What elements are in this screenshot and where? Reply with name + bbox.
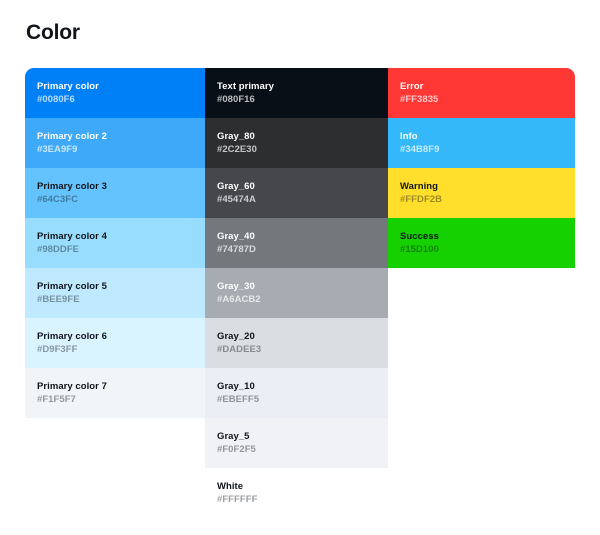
swatch-hex-value: #15D100	[400, 243, 575, 256]
color-swatch[interactable]: Primary color 6#D9F3FF	[25, 318, 205, 368]
swatch-label: Gray_10	[217, 380, 388, 393]
swatch-hex-value: #45474A	[217, 193, 388, 206]
swatch-label: Primary color 6	[37, 330, 205, 343]
swatch-hex-value: #EBEFF5	[217, 393, 388, 406]
color-swatch[interactable]: Primary color 5#BEE9FE	[25, 268, 205, 318]
color-swatch[interactable]: Gray_5#F0F2F5	[205, 418, 388, 468]
color-swatch[interactable]: Info#34B8F9	[388, 118, 575, 168]
color-swatch[interactable]: Gray_60#45474A	[205, 168, 388, 218]
swatch-column-status-colors: Error#FF3835Info#34B8F9Warning#FFDF2BSuc…	[388, 68, 575, 268]
swatch-hex-value: #FFFFFF	[217, 493, 388, 506]
swatch-label: Gray_80	[217, 130, 388, 143]
color-swatch[interactable]: Primary color#0080F6	[25, 68, 205, 118]
swatch-hex-value: #98DDFE	[37, 243, 205, 256]
swatch-hex-value: #F0F2F5	[217, 443, 388, 456]
swatch-label: Success	[400, 230, 575, 243]
color-swatch[interactable]: Gray_80#2C2E30	[205, 118, 388, 168]
swatch-label: Gray_5	[217, 430, 388, 443]
color-swatch[interactable]: Primary color 7#F1F5F7	[25, 368, 205, 418]
color-swatch[interactable]: Error#FF3835	[388, 68, 575, 118]
swatch-hex-value: #DADEE3	[217, 343, 388, 356]
swatch-label: Primary color 5	[37, 280, 205, 293]
page-title: Color	[26, 19, 80, 47]
swatch-column-primary-colors: Primary color#0080F6Primary color 2#3EA9…	[25, 68, 205, 418]
swatch-hex-value: #3EA9F9	[37, 143, 205, 156]
swatch-label: Primary color 2	[37, 130, 205, 143]
swatch-grid: Primary color#0080F6Primary color 2#3EA9…	[25, 68, 575, 518]
swatch-hex-value: #FF3835	[400, 93, 575, 106]
swatch-label: Primary color 3	[37, 180, 205, 193]
swatch-hex-value: #D9F3FF	[37, 343, 205, 356]
color-palette-page: Color Primary color#0080F6Primary color …	[0, 0, 600, 535]
swatch-label: White	[217, 480, 388, 493]
swatch-hex-value: #34B8F9	[400, 143, 575, 156]
swatch-label: Text primary	[217, 80, 388, 93]
swatch-label: Error	[400, 80, 575, 93]
swatch-column-gray-scale: Text primary#080F16Gray_80#2C2E30Gray_60…	[205, 68, 388, 518]
color-swatch[interactable]: Gray_20#DADEE3	[205, 318, 388, 368]
swatch-hex-value: #74787D	[217, 243, 388, 256]
color-swatch[interactable]: Primary color 2#3EA9F9	[25, 118, 205, 168]
color-swatch[interactable]: Gray_30#A6ACB2	[205, 268, 388, 318]
swatch-label: Primary color 4	[37, 230, 205, 243]
swatch-hex-value: #080F16	[217, 93, 388, 106]
swatch-label: Gray_60	[217, 180, 388, 193]
color-swatch[interactable]: Text primary#080F16	[205, 68, 388, 118]
swatch-hex-value: #0080F6	[37, 93, 205, 106]
swatch-label: Gray_40	[217, 230, 388, 243]
swatch-label: Primary color	[37, 80, 205, 93]
swatch-label: Gray_30	[217, 280, 388, 293]
color-swatch[interactable]: Success#15D100	[388, 218, 575, 268]
swatch-hex-value: #2C2E30	[217, 143, 388, 156]
swatch-label: Warning	[400, 180, 575, 193]
color-swatch[interactable]: Primary color 3#64C3FC	[25, 168, 205, 218]
swatch-label: Primary color 7	[37, 380, 205, 393]
swatch-hex-value: #FFDF2B	[400, 193, 575, 206]
swatch-label: Info	[400, 130, 575, 143]
color-swatch[interactable]: White#FFFFFF	[205, 468, 388, 518]
color-swatch[interactable]: Gray_40#74787D	[205, 218, 388, 268]
swatch-hex-value: #64C3FC	[37, 193, 205, 206]
color-swatch[interactable]: Warning#FFDF2B	[388, 168, 575, 218]
swatch-hex-value: #F1F5F7	[37, 393, 205, 406]
swatch-hex-value: #BEE9FE	[37, 293, 205, 306]
swatch-label: Gray_20	[217, 330, 388, 343]
color-swatch[interactable]: Primary color 4#98DDFE	[25, 218, 205, 268]
swatch-hex-value: #A6ACB2	[217, 293, 388, 306]
color-swatch[interactable]: Gray_10#EBEFF5	[205, 368, 388, 418]
